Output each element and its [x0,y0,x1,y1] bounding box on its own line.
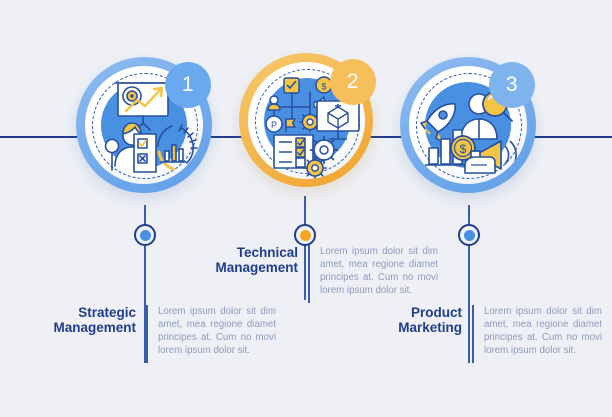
svg-text:P: P [270,120,276,130]
node-core [300,230,311,241]
flag-icon [286,118,295,132]
infographic-stage: 1 $ [0,0,612,417]
donut-bar-chart-icon [158,125,197,169]
step-text-block-3: Product Marketing Lorem ipsum dolor sit … [354,305,604,363]
step-badge-label-3: 3 [506,73,518,97]
text-divider-2 [308,245,310,303]
user-icon [268,96,280,110]
timeline-node-2[interactable] [294,224,316,246]
step-body-3: Lorem ipsum dolor sit dim amet, mea regi… [484,305,602,357]
node-core [140,230,151,241]
hand-icon [465,157,495,173]
text-divider-3 [472,305,474,363]
svg-text:$: $ [460,142,467,156]
parking-icon: P [266,116,282,132]
monitor-cube-icon [317,101,359,139]
clipboard-check-icon [284,78,299,93]
step-heading-2: Technical Management [190,245,298,275]
text-divider-1 [146,305,148,363]
coin-dollar-icon: $ [316,77,332,93]
timeline-node-3[interactable] [458,224,480,246]
svg-text:$: $ [321,81,326,91]
step-badge-1: 1 [165,62,211,108]
gear-icon [304,157,326,179]
step-badge-2: 2 [330,59,376,105]
node-core [464,230,475,241]
checklist-icon [134,134,156,172]
step-badge-label-2: 2 [347,70,359,94]
rocket-icon [421,104,455,142]
step-heading-1: Strategic Management [28,305,136,335]
timeline-node-1[interactable] [134,224,156,246]
step-body-1: Lorem ipsum dolor sit dim amet, mea regi… [158,305,276,357]
step-body-2: Lorem ipsum dolor sit dim amet, mea regi… [320,245,438,297]
step-text-block-2: Technical Management Lorem ipsum dolor s… [190,245,440,303]
step-text-block-1: Strategic Management Lorem ipsum dolor s… [28,305,278,363]
checklist-icon [274,135,313,168]
step-heading-3: Product Marketing [354,305,462,335]
step-badge-label-1: 1 [182,73,194,97]
step-badge-3: 3 [489,62,535,108]
